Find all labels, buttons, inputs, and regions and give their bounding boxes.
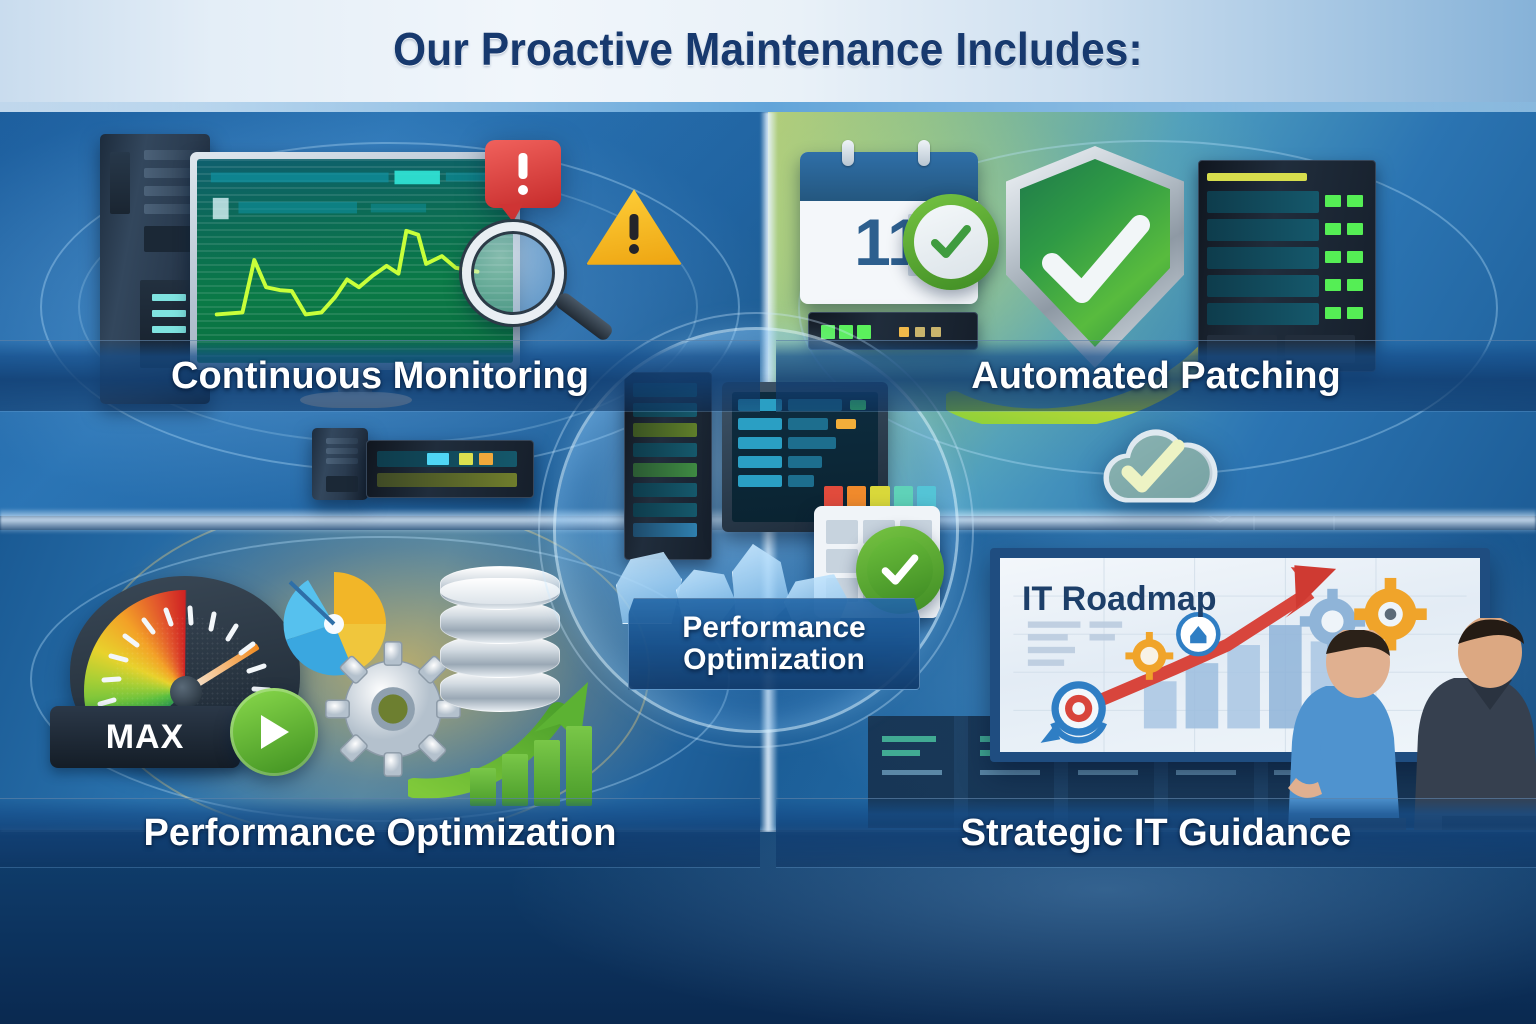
infographic-canvas: 11 [0,0,1536,1024]
label-performance-optimization: Performance Optimization [0,798,760,868]
magnifier-icon [462,222,564,324]
alert-badge-icon [485,140,561,208]
label-continuous-monitoring: Continuous Monitoring [0,340,760,412]
label-text: Continuous Monitoring [171,355,589,398]
page-title: Our Proactive Maintenance Includes: [61,22,1474,76]
gauge-label-text: MAX [106,718,185,757]
label-text: Performance Optimization [144,812,617,855]
server-and-rack-icon [312,418,542,502]
bar-chart-bar [566,726,592,806]
gauge-max-label: MAX [50,706,240,768]
board-title: IT Roadmap [1022,580,1217,619]
label-text: Automated Patching [971,355,1340,398]
title-banner: Our Proactive Maintenance Includes: [0,0,1536,112]
check-circle-icon [903,194,999,290]
play-button-icon [230,688,318,776]
label-automated-patching: Automated Patching [776,340,1536,412]
label-strategic-it-guidance: Strategic IT Guidance [776,798,1536,868]
label-center-line1: Performance [682,612,865,644]
cloud-check-icon [1092,420,1232,512]
label-center-performance-optimization: Performance Optimization [628,598,920,690]
bar-chart-bar [534,740,560,806]
label-center-line2: Optimization [683,644,865,676]
label-text: Strategic IT Guidance [961,812,1352,855]
